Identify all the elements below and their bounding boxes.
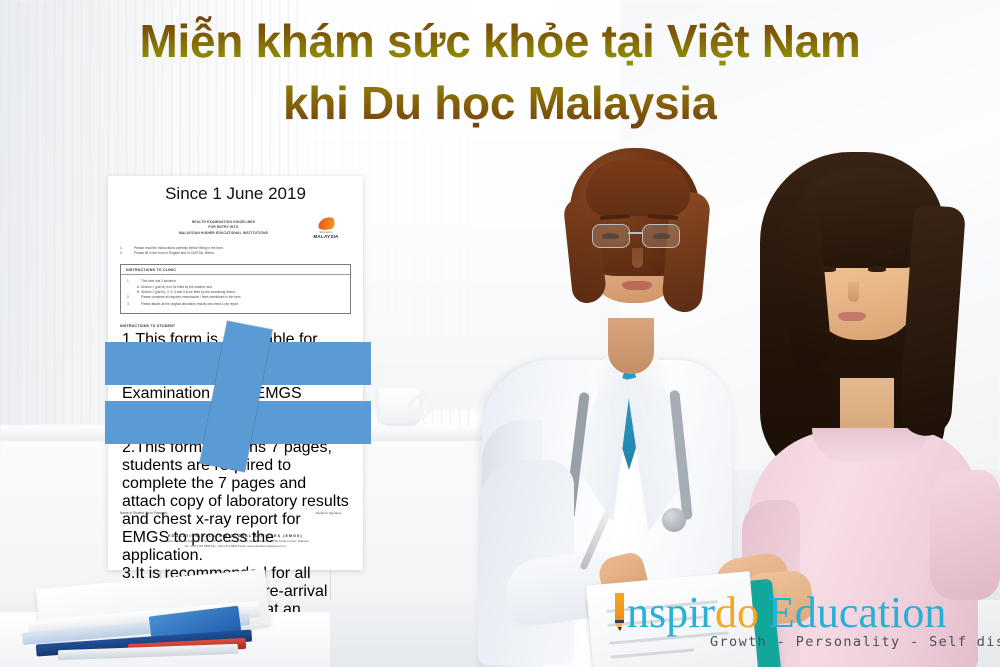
inspirdo-education-logo[interactable]: nspirdoEducation Growth - Personality - … [612,590,990,652]
poster-title: Miễn khám sức khỏe tại Việt Nam khi Du h… [0,10,1000,134]
section-body: 1.This form has 2 sections: A. Section 1… [121,275,350,314]
title-line-2: khi Du học Malaysia [283,72,717,134]
patient-sleeve [930,470,1000,600]
glasses-bridge [628,232,642,234]
form-footer: EDUCATION MALAYSIA GLOBAL SERVICES (EMGS… [120,534,351,548]
list-item: 3.Please attach all the original laborat… [127,302,344,307]
footer-contact: Tel: +603 2782 5888 Fax: +603 2711 8930 … [120,544,351,548]
patient-nose [848,282,859,302]
doctor-neck [608,318,654,374]
stethoscope-bell [662,508,686,532]
patient-collar [812,428,928,462]
footer-address: Education Malaysia Star Shop Centre, 10t… [120,539,351,543]
section-title: INSTRUCTIONS TO CLINIC [121,265,350,275]
poster-canvas: Miễn khám sức khỏe tại Việt Nam khi Du h… [0,0,1000,667]
section-title: INSTRUCTIONS TO STUDENT [120,321,351,330]
swoosh-icon [316,216,336,232]
list-item: 1.This form has 2 sections: [127,279,344,284]
section-instructions-to-clinic: INSTRUCTIONS TO CLINIC 1.This form has 2… [120,264,351,315]
patient-eye-left [818,266,836,272]
signature-caption: Student's Signature [306,511,351,515]
top-notes: 1. Please read the instructions carefull… [120,246,351,256]
title-line-1: Miễn khám sức khỏe tại Việt Nam [139,10,860,72]
document-stack [0,575,300,667]
signature-row: Name of Student (As in Passport) (......… [120,506,351,515]
patient-eye-right [868,266,886,272]
eyeglasses-icon [592,224,680,248]
lens-right [642,224,680,248]
signature-block: (.............................) Student'… [306,506,351,515]
logo-education: Education [768,588,946,637]
doctor-mouth [622,281,652,290]
signature-line: (.............................) [306,506,351,510]
logo-line-2: MALAYSIA [305,234,347,239]
form-body: Education MALAYSIA HEALTH EXAMINATION GU… [120,220,351,530]
education-malaysia-logo: Education MALAYSIA [305,218,347,239]
pencil-icon [612,593,627,633]
coffee-mug [378,388,420,424]
since-heading: Since 1 June 2019 [108,184,363,204]
logo-nspir: nspir [627,588,715,637]
student-name-label: Name of Student (As in Passport) [120,511,167,515]
logo-wordmark: nspirdoEducation [612,590,946,636]
patient-mouth [838,312,866,321]
footer-org: EDUCATION MALAYSIA GLOBAL SERVICES (EMGS… [120,534,351,538]
list-item: 1.This form is applicable for students w… [122,331,349,439]
logo-do: do [715,588,759,637]
doctor-nose [632,248,643,268]
list-item: 2.Please complete all required examinati… [127,295,344,300]
health-exam-form: Since 1 June 2019 Education MALAYSIA HEA… [108,176,363,570]
list-item: 2. Please fill in the form in English an… [120,251,351,256]
logo-tagline: Growth - Personality - Self discipline [710,634,1000,650]
lens-left [592,224,630,248]
doctor-fringe [586,160,690,216]
